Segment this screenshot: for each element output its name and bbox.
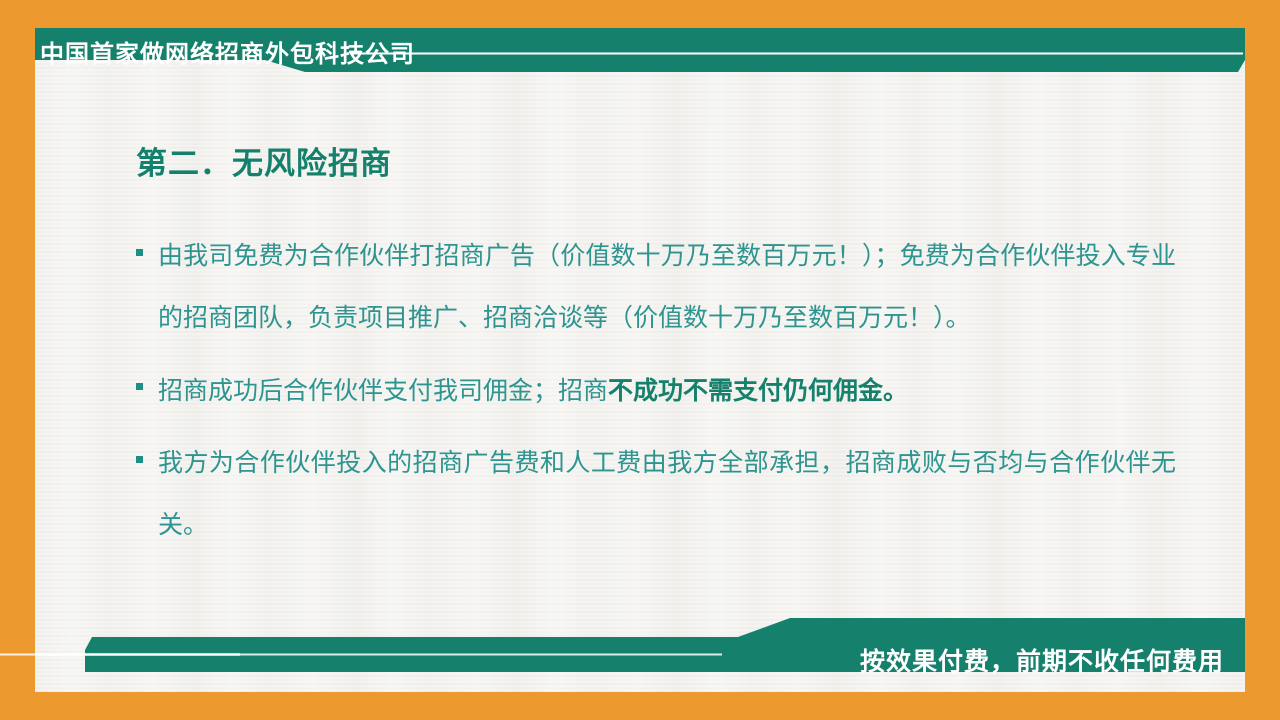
bullet-list: 由我司免费为合作伙伴打招商广告（价值数十万乃至数百万元！）；免费为合作伙伴投入专… — [136, 226, 1176, 567]
list-item-segment: 我方为合作伙伴投入的招商广告费和人工费由我方全部承担，招商成败与否均与合作伙伴无… — [158, 450, 1176, 539]
frame-bottom-edge — [0, 692, 1280, 720]
list-item: 我方为合作伙伴投入的招商广告费和人工费由我方全部承担，招商成败与否均与合作伙伴无… — [136, 433, 1176, 557]
square-bullet-icon — [136, 226, 158, 260]
slide: 中国首家做网络招商外包科技公司 第二．无风险招商 由我司免费为合作伙伴打招商广告… — [0, 0, 1280, 720]
frame-top-edge — [0, 0, 1280, 28]
list-item-segment: 招商成功后合作伙伴支付我司佣金；招商 — [158, 378, 608, 405]
header-banner-text: 中国首家做网络招商外包科技公司 — [40, 34, 415, 69]
page-title: 第二．无风险招商 — [136, 138, 392, 183]
list-item-segment-emphasis: 不成功不需支付仍何佣金。 — [608, 377, 908, 405]
list-item-text: 我方为合作伙伴投入的招商广告费和人工费由我方全部承担，招商成败与否均与合作伙伴无… — [158, 433, 1176, 557]
frame-left-edge — [0, 0, 35, 720]
list-item-text: 招商成功后合作伙伴支付我司佣金；招商不成功不需支付仍何佣金。 — [158, 360, 1176, 423]
frame-right-edge — [1245, 0, 1280, 720]
list-item-text: 由我司免费为合作伙伴打招商广告（价值数十万乃至数百万元！）；免费为合作伙伴投入专… — [158, 226, 1176, 350]
square-bullet-icon — [136, 360, 158, 394]
footer-tagline: 按效果付费，前期不收任何费用 — [860, 642, 1224, 678]
square-bullet-icon — [136, 433, 158, 467]
list-item-segment: 由我司免费为合作伙伴打招商广告（价值数十万乃至数百万元！）；免费为合作伙伴投入专… — [158, 243, 1176, 332]
list-item: 招商成功后合作伙伴支付我司佣金；招商不成功不需支付仍何佣金。 — [136, 360, 1176, 423]
list-item: 由我司免费为合作伙伴打招商广告（价值数十万乃至数百万元！）；免费为合作伙伴投入专… — [136, 226, 1176, 350]
